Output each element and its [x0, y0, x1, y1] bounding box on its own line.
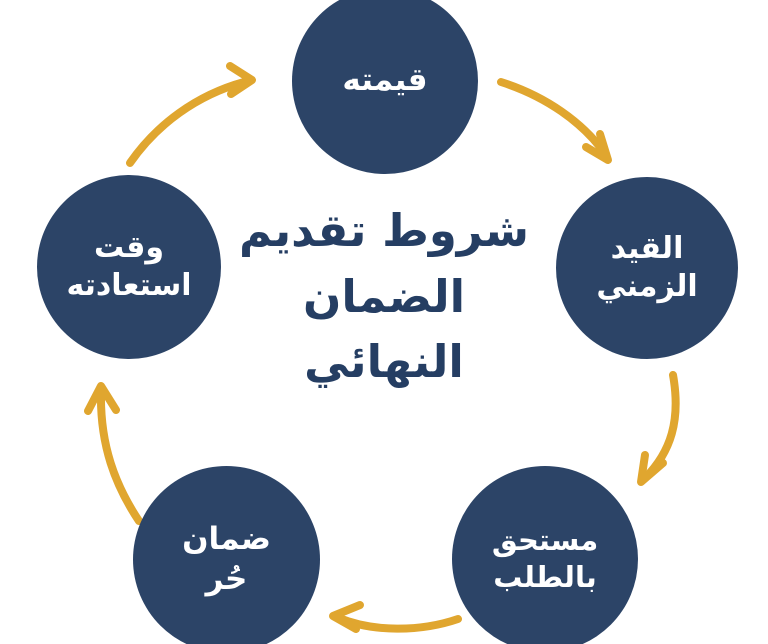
- node-recovery-time-label: وقت استعادته: [58, 229, 199, 306]
- arrow-recovery-time-to-value: [130, 66, 252, 163]
- node-recovery-time[interactable]: وقت استعادته: [37, 175, 221, 359]
- arrow-value-to-time-limit: [501, 82, 608, 160]
- arrow-on-demand-to-free-guarantee: [333, 605, 458, 629]
- node-time-limit[interactable]: القيد الزمني: [556, 177, 738, 359]
- node-on-demand[interactable]: مستحق بالطلب: [452, 466, 638, 644]
- arrow-time-limit-to-on-demand: [641, 375, 676, 482]
- node-on-demand-label: مستحق بالطلب: [484, 522, 606, 596]
- cycle-diagram: شروط تقديم الضمان النهائي قيمته القيد ال…: [0, 0, 768, 644]
- node-free-guarantee[interactable]: ضمان حُر: [133, 466, 320, 644]
- node-value-label: قيمته: [334, 61, 435, 101]
- center-heading-line-3: النهائي: [304, 329, 464, 395]
- node-time-limit-label: القيد الزمني: [588, 230, 705, 307]
- arrow-free-guarantee-to-recovery-time: [88, 386, 139, 521]
- node-free-guarantee-label: ضمان حُر: [174, 520, 279, 599]
- node-value[interactable]: قيمته: [292, 0, 478, 174]
- center-heading-line-2: الضمان: [303, 264, 465, 330]
- center-heading: شروط تقديم الضمان النهائي: [198, 198, 570, 446]
- center-heading-line-1: شروط تقديم: [239, 198, 529, 264]
